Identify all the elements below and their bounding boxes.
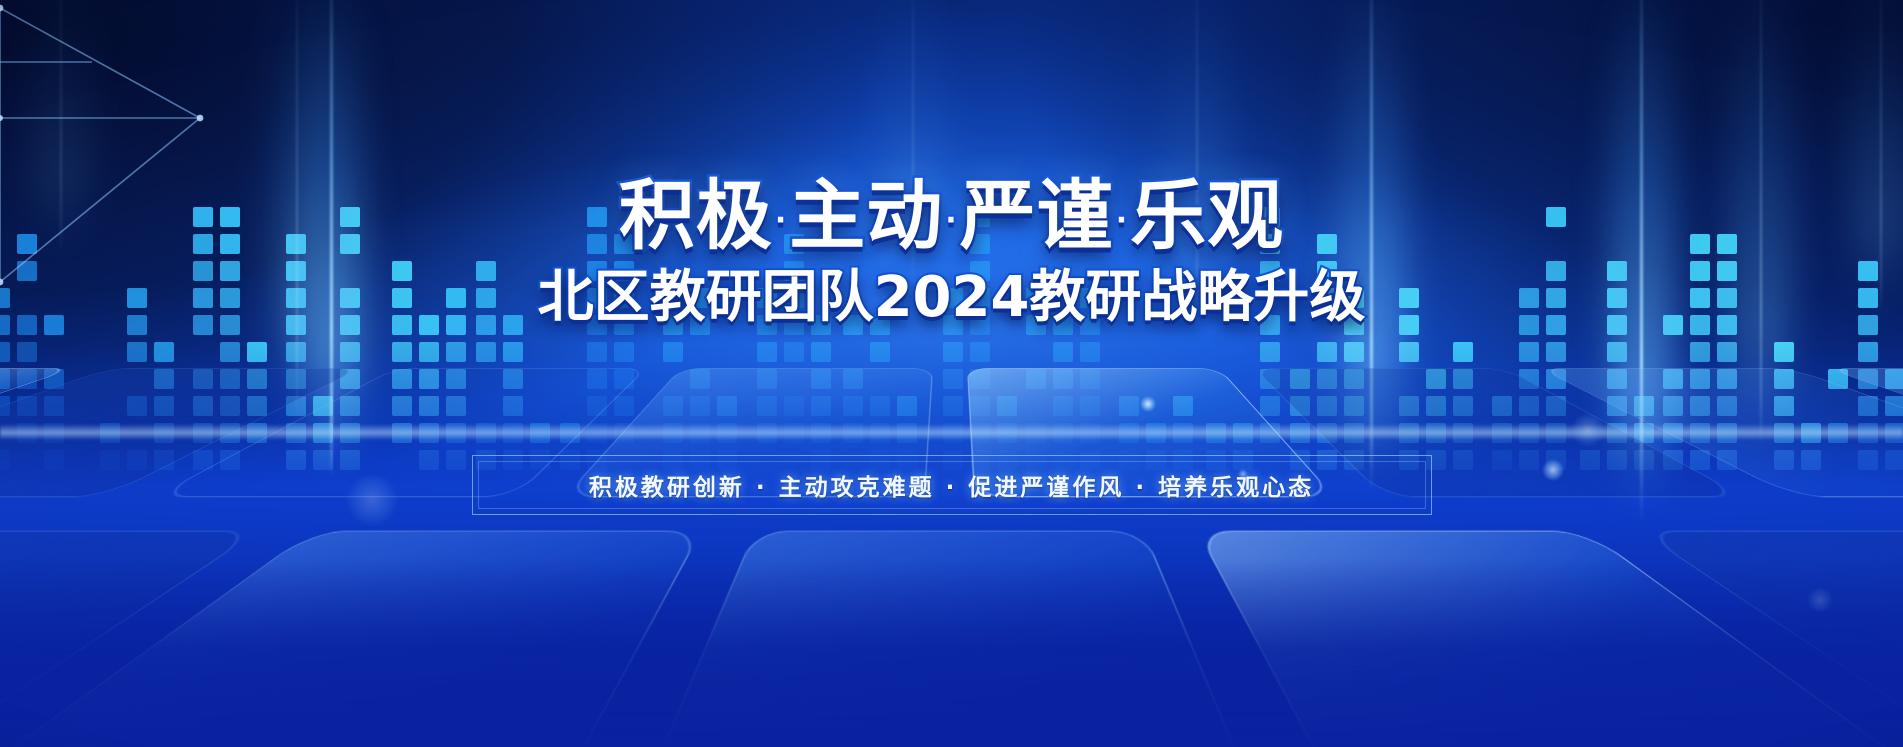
- skyline-pixel: [340, 342, 360, 362]
- skyline-pixel: [1399, 342, 1419, 362]
- skyline-pixel: [286, 342, 306, 362]
- skyline-pixel: [614, 342, 634, 362]
- title-word: 积极: [619, 171, 773, 260]
- skyline-pixel: [247, 342, 267, 362]
- title-word: 严谨: [960, 171, 1114, 260]
- page-subtitle: 北区教研团队2024教研战略升级: [0, 267, 1903, 329]
- skyline-pixel: [17, 342, 37, 362]
- skyline-pixel: [503, 342, 523, 362]
- tagline-bar: 积极教研创新 · 主动攻克难题 · 促进严谨作风 · 培养乐观心态: [472, 455, 1432, 515]
- skyline-pixel: [1774, 342, 1794, 362]
- skyline-pixel: [1717, 342, 1737, 362]
- skyline-pixel: [587, 342, 607, 362]
- skyline-pixel: [757, 342, 777, 362]
- skyline-pixel: [870, 342, 890, 362]
- skyline-pixel: [811, 342, 831, 362]
- skyline-pixel: [1260, 342, 1280, 362]
- headline-block: 积极·主动·严谨·乐观 北区教研团队2024教研战略升级: [0, 176, 1903, 328]
- skyline-pixel: [970, 342, 990, 362]
- skyline-pixel: [1690, 342, 1710, 362]
- page-title: 积极·主动·严谨·乐观: [0, 176, 1903, 257]
- skyline-pixel: [0, 342, 10, 362]
- title-separator-dot: ·: [1116, 203, 1128, 238]
- skyline-pixel: [419, 342, 439, 362]
- skyline-pixel: [1317, 342, 1337, 362]
- title-separator-dot: ·: [775, 203, 787, 238]
- skyline-pixel: [1546, 342, 1566, 362]
- skyline-pixel: [1453, 342, 1473, 362]
- title-word: 乐观: [1130, 171, 1284, 260]
- skyline-pixel: [1344, 342, 1364, 362]
- skyline-pixel: [663, 342, 683, 362]
- skyline-pixel: [784, 342, 804, 362]
- skyline-pixel: [1858, 342, 1878, 362]
- skyline-pixel: [943, 342, 963, 362]
- tagline-text: 积极教研创新 · 主动攻克难题 · 促进严谨作风 · 培养乐观心态: [589, 468, 1314, 502]
- title-separator-dot: ·: [945, 203, 957, 238]
- skyline-pixel: [127, 342, 147, 362]
- skyline-pixel: [154, 342, 174, 362]
- skyline-pixel: [220, 342, 240, 362]
- floor-tile: [582, 531, 1314, 747]
- title-word: 主动: [789, 171, 943, 260]
- skyline-pixel: [1607, 342, 1627, 362]
- skyline-pixel: [1053, 342, 1073, 362]
- skyline-pixel: [1519, 342, 1539, 362]
- skyline-pixel: [446, 342, 466, 362]
- banner-canvas: 积极·主动·严谨·乐观 北区教研团队2024教研战略升级 积极教研创新 · 主动…: [0, 0, 1903, 747]
- skyline-pixel: [476, 342, 496, 362]
- floor-tiles: [0, 368, 1903, 747]
- skyline-pixel: [392, 342, 412, 362]
- skyline-pixel: [1080, 342, 1100, 362]
